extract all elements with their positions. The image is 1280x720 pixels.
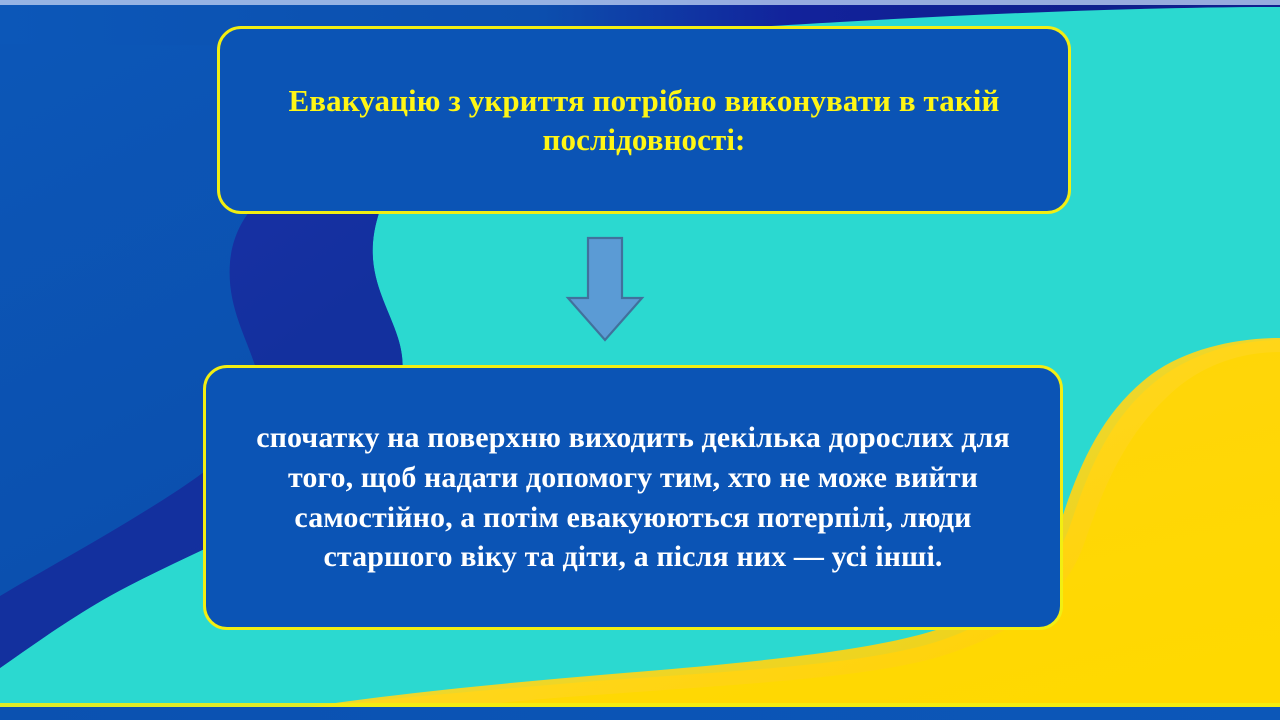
callout-box-top[interactable]: Евакуацію з укриття потрібно виконувати … bbox=[217, 26, 1071, 214]
down-arrow-shape bbox=[568, 238, 642, 340]
callout-top-text: Евакуацію з укриття потрібно виконувати … bbox=[246, 81, 1042, 159]
callout-box-bottom[interactable]: спочатку на поверхню виходить декілька д… bbox=[203, 365, 1063, 630]
slide-canvas: Евакуацію з укриття потрібно виконувати … bbox=[0, 0, 1280, 720]
down-arrow-icon bbox=[565, 236, 645, 342]
callout-bottom-text: спочатку на поверхню виходить декілька д… bbox=[230, 418, 1036, 576]
content-layer: Евакуацію з укриття потрібно виконувати … bbox=[0, 0, 1280, 720]
